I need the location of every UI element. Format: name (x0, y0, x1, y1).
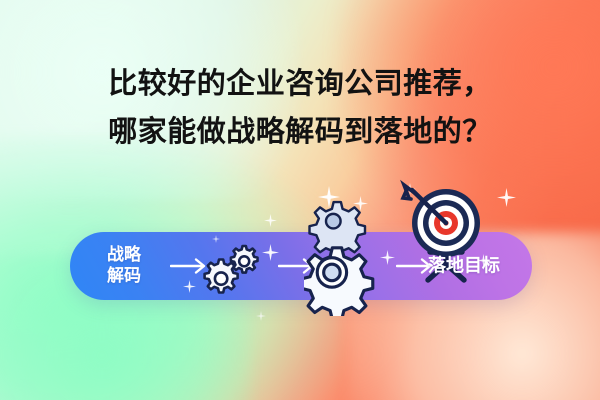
banner-end-label: 落地目标 (416, 256, 512, 277)
banner-start-label-line-1: 战略 (92, 244, 156, 265)
headline: 比较好的企业咨询公司推荐， 哪家能做战略解码到落地的？ (0, 60, 600, 156)
banner-start-label-line-2: 解码 (92, 265, 156, 286)
large-gears-icon (304, 196, 394, 316)
sparkle-icon-8 (183, 280, 196, 293)
process-flow-banner[interactable]: 战略 解码 (70, 232, 532, 300)
headline-line-1: 比较好的企业咨询公司推荐， (0, 60, 600, 108)
poster-canvas: 比较好的企业咨询公司推荐， 哪家能做战略解码到落地的？ 战略 解码 (0, 0, 600, 400)
small-gears-icon (198, 242, 264, 298)
headline-line-2: 哪家能做战略解码到落地的？ (0, 108, 600, 156)
banner-start-label: 战略 解码 (92, 244, 156, 286)
sparkle-icon-7 (262, 244, 279, 261)
